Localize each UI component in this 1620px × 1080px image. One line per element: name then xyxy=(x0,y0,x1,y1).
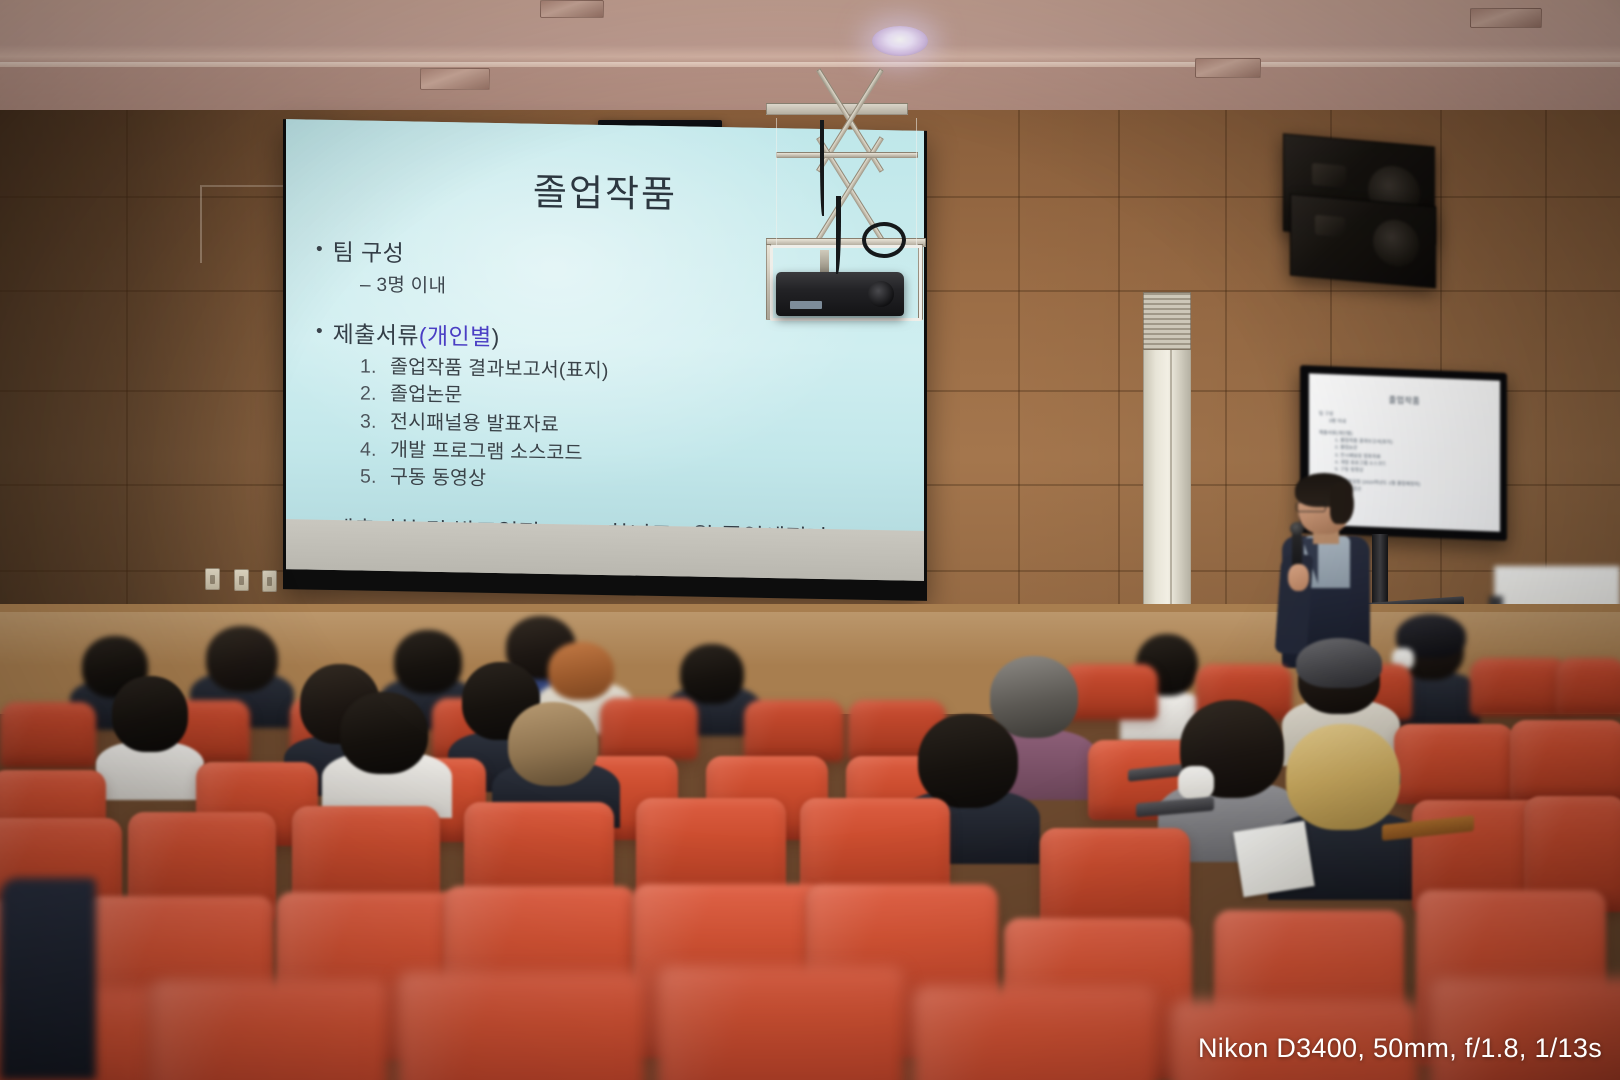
audience-head xyxy=(394,630,462,694)
auditorium-seat xyxy=(912,986,1158,1080)
slide-bullet-2-text: 제출서류(개인별) xyxy=(333,320,500,352)
presenter-hand xyxy=(1288,564,1309,591)
list-number: 5. xyxy=(360,464,376,492)
ceiling-projector xyxy=(776,272,904,316)
auditorium-seat xyxy=(396,972,646,1080)
auditorium-seat xyxy=(1394,724,1514,804)
auditorium-seat xyxy=(600,698,698,760)
auditorium-seat xyxy=(656,966,906,1080)
duct-vent-grille xyxy=(1143,292,1191,350)
audience-head xyxy=(508,702,598,786)
ceiling-vent-1 xyxy=(420,68,490,90)
auditorium-presentation-photo: 졸업작품 • 팀 구성 – 3명 이내 • 제출서류(개인별) 1.졸업작품 xyxy=(0,0,1620,1080)
monitor-slide-title: 졸업작품 xyxy=(1319,392,1490,410)
ceiling-downlight xyxy=(872,26,928,56)
speaker-horn xyxy=(1315,215,1345,238)
duct-seam xyxy=(1170,350,1172,645)
audience-head xyxy=(548,642,614,700)
list-number: 1. xyxy=(360,353,376,381)
ceiling xyxy=(0,0,1620,118)
bullet-dot-icon: • xyxy=(316,319,323,342)
projection-screen: 졸업작품 • 팀 구성 – 3명 이내 • 제출서류(개인별) 1.졸업작품 xyxy=(283,119,927,601)
audience-face-mask xyxy=(1178,766,1214,800)
ceiling-vent-2 xyxy=(540,0,604,18)
slide-bullet-2-highlight: (개인별 xyxy=(419,322,492,349)
microphone-head-icon xyxy=(1290,522,1304,535)
list-text: 졸업작품 결과보고서(표지) xyxy=(390,354,609,386)
auditorium-seat xyxy=(1470,658,1568,716)
foreground-person-coat xyxy=(0,878,96,1080)
slide-bullet-2-text-before: 제출서류 xyxy=(333,321,419,349)
audience-head xyxy=(680,644,744,704)
wall-scuff-mark xyxy=(200,185,290,263)
list-number: 2. xyxy=(360,381,376,409)
wall-outlet-2 xyxy=(234,569,249,591)
ceiling-vent-4 xyxy=(1470,8,1542,28)
suspension-wire-right xyxy=(916,118,917,246)
list-text: 졸업논문 xyxy=(390,381,463,410)
slide-numbered-list: 1.졸업작품 결과보고서(표지) 2.졸업논문 3.전시패널용 발표자료 4.개… xyxy=(360,353,894,501)
presenter-hair-side xyxy=(1330,482,1354,524)
list-text: 구동 동영상 xyxy=(390,464,486,493)
wall-outlet-3 xyxy=(262,570,277,592)
list-text: 개발 프로그램 소스코드 xyxy=(390,437,583,468)
bullet-dot-icon: • xyxy=(316,238,323,261)
screen-surface: 졸업작품 • 팀 구성 – 3명 이내 • 제출서류(개인별) 1.졸업작품 xyxy=(286,119,924,581)
audience-head xyxy=(1286,724,1400,830)
auditorium-seat xyxy=(0,702,96,768)
projector-cable xyxy=(820,120,824,216)
list-number: 4. xyxy=(360,436,376,464)
projected-image-area: 졸업작품 • 팀 구성 – 3명 이내 • 제출서류(개인별) 1.졸업작품 xyxy=(286,119,924,531)
held-paper-sheet xyxy=(1233,821,1314,897)
presenter-glasses xyxy=(1296,502,1326,512)
projector-cable-coil xyxy=(862,222,906,258)
slide-title: 졸업작품 xyxy=(316,158,894,223)
audience-head xyxy=(340,692,428,774)
camera-exif-watermark: Nikon D3400, 50mm, f/1.8, 1/13s xyxy=(1198,1033,1602,1064)
wall-panel-seam xyxy=(126,110,128,670)
audience-head xyxy=(918,714,1018,808)
wall-panel-seam xyxy=(1118,110,1120,670)
audience-head xyxy=(206,626,278,692)
ceiling-vent-3 xyxy=(1195,58,1261,78)
list-number: 3. xyxy=(360,408,376,436)
wall-panel-seam xyxy=(1225,110,1227,670)
auditorium-seat xyxy=(150,980,390,1080)
auditorium-seat xyxy=(1510,720,1620,802)
list-text: 전시패널용 발표자료 xyxy=(390,409,559,440)
slide-bullet-2-text-after: ) xyxy=(492,324,500,350)
ceiling-seam xyxy=(0,62,1620,67)
presentation-slide: 졸업작품 • 팀 구성 – 3명 이내 • 제출서류(개인별) 1.졸업작품 xyxy=(286,119,924,531)
wall-panel-seam xyxy=(1018,110,1020,670)
speaker-horn xyxy=(1312,163,1346,188)
loudspeaker-lower xyxy=(1290,194,1436,289)
projector-brand-label xyxy=(790,301,822,309)
projector-lens xyxy=(868,281,894,307)
slide-bullet-1-text: 팀 구성 xyxy=(333,238,404,268)
suspension-wire-left xyxy=(776,118,777,248)
audience-cap-hat xyxy=(1296,638,1382,688)
auditorium-seat xyxy=(744,700,844,762)
lift-mid-rail xyxy=(776,152,918,158)
auditorium-seat xyxy=(1428,978,1620,1080)
audience-head xyxy=(112,676,188,752)
auditorium-seat xyxy=(1556,658,1620,716)
wall-outlet-1 xyxy=(205,568,220,590)
speaker-cone xyxy=(1373,218,1419,268)
